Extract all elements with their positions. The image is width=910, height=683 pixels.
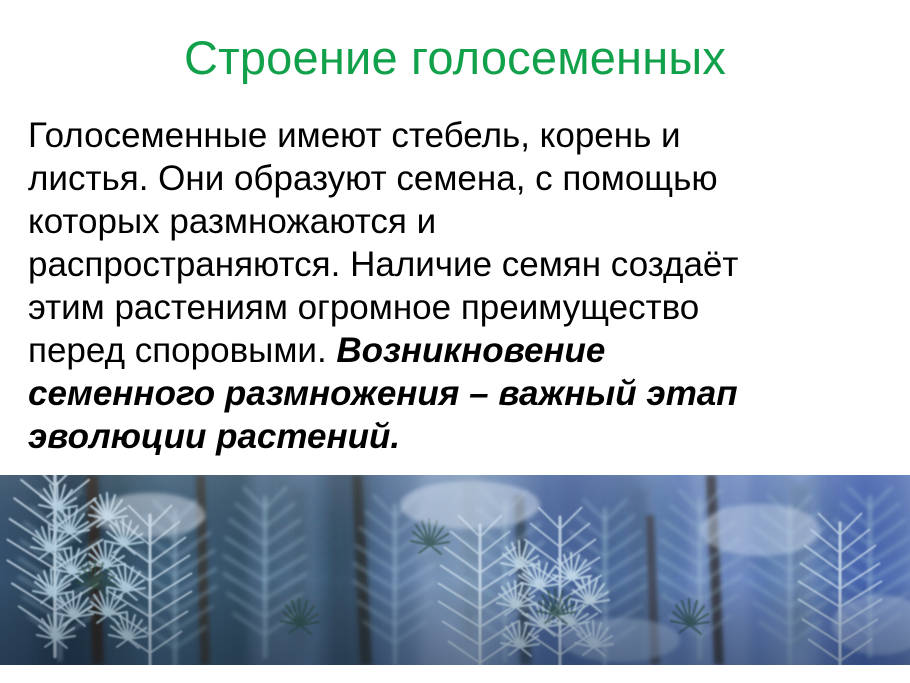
body-line-7: семенного размножения – важный этап: [28, 372, 880, 415]
page-title: Строение голосеменных: [0, 30, 910, 86]
body-line-1: Голосеменные имеют стебель, корень и: [28, 114, 880, 157]
body-line-5: этим растениям огромное преимущество: [28, 286, 880, 329]
body-line-6-emphasis: Возникновение: [336, 331, 605, 370]
slide-body-text: Голосеменные имеют стебель, корень и лис…: [28, 114, 880, 458]
bottom-white-strip: [0, 665, 910, 683]
body-line-6: перед спорoвыми. Возникновение: [28, 329, 880, 372]
body-line-2: листья. Они образуют семена, с помощью: [28, 157, 880, 200]
frosted-pine-branches-photo: [0, 475, 910, 665]
slide-root: Строение голосеменных Голосеменные имеют…: [0, 0, 910, 683]
frosted-pine-branches-illustration: [0, 475, 910, 665]
body-line-6-normal: перед спорoвыми.: [28, 331, 336, 370]
body-line-8: эволюции растений.: [28, 415, 880, 458]
body-line-3: которых размножаются и: [28, 200, 880, 243]
body-line-4: распространяются. Наличие семян создаёт: [28, 243, 880, 286]
